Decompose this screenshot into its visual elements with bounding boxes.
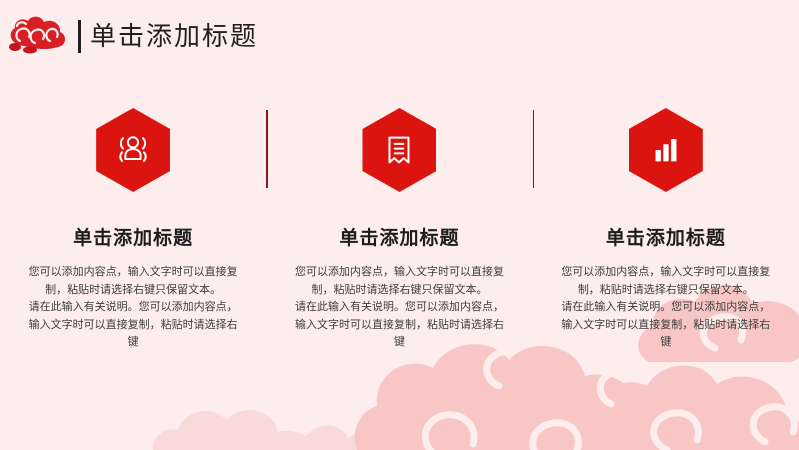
column-body-3: 您可以添加内容点，输入文字时可以直接复制，粘贴时请选择右键只保留文本。 请在此输…	[560, 264, 772, 352]
chinese-auspicious-cloud-icon	[6, 14, 68, 56]
hexagon-badge-2[interactable]	[362, 108, 436, 192]
slide-header: 单击添加标题	[0, 0, 799, 72]
column-paragraph: 请在此输入有关说明。您可以添加内容点，输入文字时可以直接复制，粘贴时请选择右键	[560, 299, 772, 352]
column-title-3: 单击添加标题	[606, 226, 726, 252]
hexagon-badge-1[interactable]	[96, 108, 170, 192]
content-column-1: 单击添加标题 您可以添加内容点，输入文字时可以直接复制，粘贴时请选择右键只保留文…	[0, 100, 266, 400]
column-title-1: 单击添加标题	[73, 226, 193, 252]
column-paragraph: 您可以添加内容点，输入文字时可以直接复制，粘贴时请选择右键只保留文本。	[27, 264, 239, 299]
page-title: 单击添加标题	[90, 18, 258, 54]
hexagon-badge-3[interactable]	[629, 108, 703, 192]
column-body-1: 您可以添加内容点，输入文字时可以直接复制，粘贴时请选择右键只保留文本。 请在此输…	[27, 264, 239, 352]
receipt-document-icon	[380, 131, 418, 169]
column-body-2: 您可以添加内容点，输入文字时可以直接复制，粘贴时请选择右键只保留文本。 请在此输…	[293, 264, 505, 352]
column-paragraph: 您可以添加内容点，输入文字时可以直接复制，粘贴时请选择右键只保留文本。	[560, 264, 772, 299]
content-columns: 单击添加标题 您可以添加内容点，输入文字时可以直接复制，粘贴时请选择右键只保留文…	[0, 100, 799, 400]
column-paragraph: 您可以添加内容点，输入文字时可以直接复制，粘贴时请选择右键只保留文本。	[293, 264, 505, 299]
users-group-icon	[114, 131, 152, 169]
content-column-3: 单击添加标题 您可以添加内容点，输入文字时可以直接复制，粘贴时请选择右键只保留文…	[533, 100, 799, 400]
column-title-2: 单击添加标题	[339, 226, 459, 252]
column-paragraph: 请在此输入有关说明。您可以添加内容点，输入文字时可以直接复制，粘贴时请选择右键	[27, 299, 239, 352]
column-paragraph: 请在此输入有关说明。您可以添加内容点，输入文字时可以直接复制，粘贴时请选择右键	[293, 299, 505, 352]
bar-chart-icon	[647, 131, 685, 169]
title-accent-bar	[78, 20, 81, 53]
content-column-2: 单击添加标题 您可以添加内容点，输入文字时可以直接复制，粘贴时请选择右键只保留文…	[266, 100, 532, 400]
slide-canvas: 单击添加标题 单击添加标题 您可以	[0, 0, 799, 450]
